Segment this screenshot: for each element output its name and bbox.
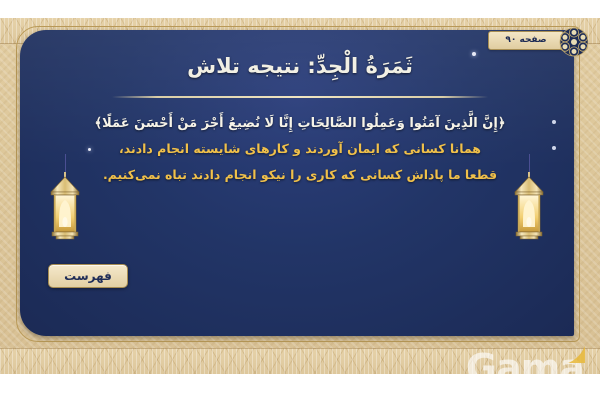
list-item: قطعا ما پاداش کسانی که کاری را نیکو انجا… <box>58 164 542 183</box>
translation-line: همانا کسانی که ایمان آوردند و کارهای شای… <box>119 141 481 156</box>
title-underline <box>112 96 488 98</box>
index-button[interactable]: فهرست <box>48 264 128 288</box>
page-number-badge: صفحه ۹۰ <box>488 31 564 50</box>
rosette-glyph <box>554 22 594 62</box>
slide-root: فهرست ثَمَرَةُ الْجِدِّ: نتیجه تلاش ﴿إِن… <box>0 0 600 400</box>
bullet-icon <box>552 120 556 124</box>
list-item: ﴿إِنَّ الَّذِينَ آمَنُوا وَعَمِلُوا الصَ… <box>58 112 542 131</box>
decorative-band-bottom <box>0 348 600 374</box>
ayah-text: ﴿إِنَّ الَّذِينَ آمَنُوا وَعَمِلُوا الصَ… <box>95 116 506 131</box>
bullet-icon <box>552 146 556 150</box>
list-item: همانا کسانی که ایمان آوردند و کارهای شای… <box>58 138 542 157</box>
rosette-medallion-icon <box>554 22 594 62</box>
content-list: ﴿إِنَّ الَّذِينَ آمَنُوا وَعَمِلُوا الصَ… <box>58 112 542 190</box>
band-rule-bottom <box>0 348 600 349</box>
translation-line: قطعا ما پاداش کسانی که کاری را نیکو انجا… <box>103 167 497 182</box>
page-title: ثَمَرَةُ الْجِدِّ: نتیجه تلاش <box>0 54 600 78</box>
